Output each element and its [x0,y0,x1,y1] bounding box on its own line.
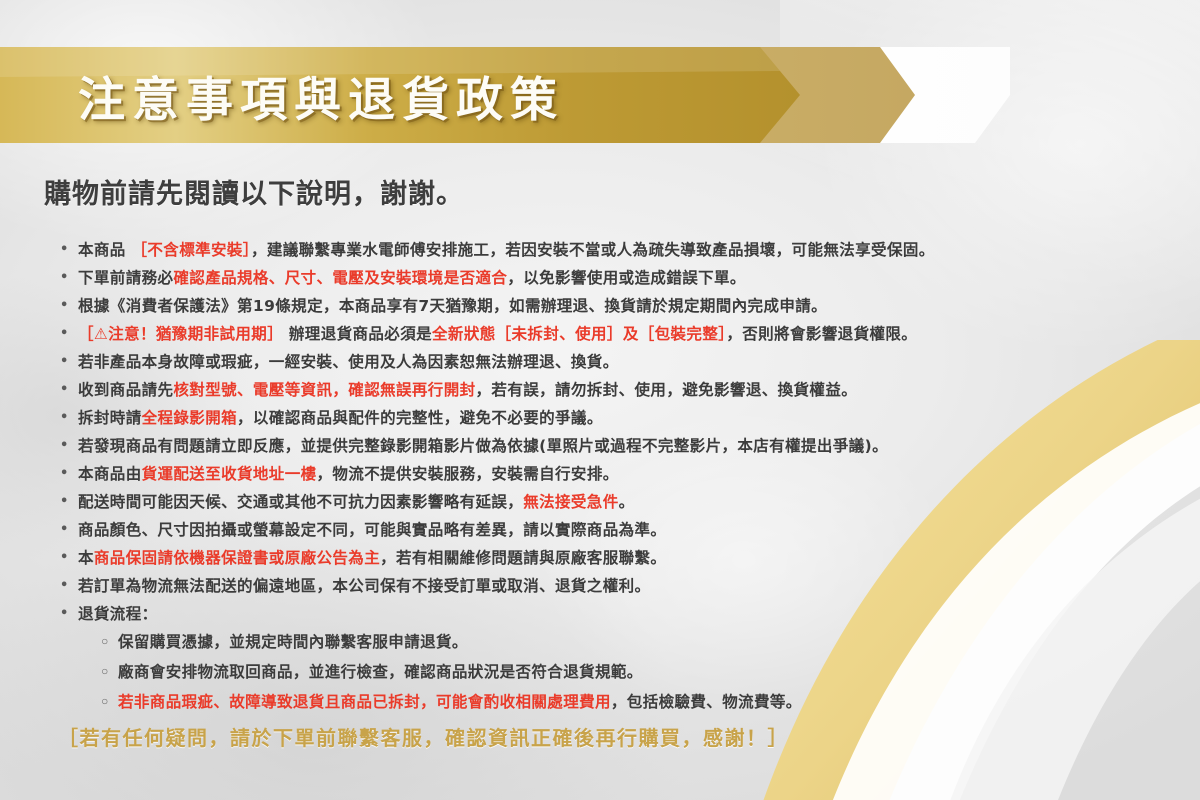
notice-item-text: ［⚠注意！猶豫期非試用期］ 辦理退貨商品必須是全新狀態［未拆封、使用］及［包裝完… [78,320,1180,348]
disc-bullet-icon [60,488,78,516]
highlighted-text: 核對型號、電壓等資訊，確認無誤再行開封 [173,381,475,399]
notice-item-text: 配送時間可能因天候、交通或其他不可抗力因素影響略有延誤，無法接受急件。 [78,488,1180,516]
body-text: 本商品由 [78,465,142,483]
body-text: 根據《消費者保護法》第19條規定，本商品享有7天猶豫期，如需辦理退、換貨請於規定… [78,297,827,315]
body-text: 下單前請務必 [78,269,173,287]
content-area: 購物前請先閱讀以下說明，謝謝。 本商品 ［不含標準安裝］，建議聯繫專業水電師傅安… [0,0,1200,800]
body-text: 拆封時請 [78,409,142,427]
notice-item-text: 本商品保固請依機器保證書或原廠公告為主，若有相關維修問題請與原廠客服聯繫。 [78,544,1180,572]
disc-bullet-icon [60,264,78,292]
disc-bullet-icon [60,460,78,488]
body-text: 配送時間可能因天候、交通或其他不可抗力因素影響略有延誤， [78,493,523,511]
notice-item-text: 本商品由貨運配送至收貨地址一樓，物流不提供安裝服務，安裝需自行安排。 [78,460,1180,488]
notice-item-text: 若訂單為物流無法配送的偏遠地區，本公司保有不接受訂單或取消、退貨之權利。 [78,572,1180,600]
notice-item: 根據《消費者保護法》第19條規定，本商品享有7天猶豫期，如需辦理退、換貨請於規定… [60,292,1180,320]
notice-sub-item: 廠商會安排物流取回商品，並進行檢查，確認商品狀況是否符合退貨規範。 [100,658,1180,688]
notice-item-text: 若發現商品有問題請立即反應，並提供完整錄影開箱影片做為依據(單照片或過程不完整影… [78,432,1180,460]
body-text: 本商品 [78,241,132,259]
notice-item: 本商品由貨運配送至收貨地址一樓，物流不提供安裝服務，安裝需自行安排。 [60,460,1180,488]
notice-item-text: 保留購買憑據，並規定時間內聯繫客服申請退貨。 [118,628,1180,656]
notice-item-text: 若非產品本身故障或瑕疵，一經安裝、使用及人為因素恕無法辦理退、換貨。 [78,348,1180,376]
body-text: ，否則將會影響退貨權限。 [726,325,917,343]
notice-item: 若非產品本身故障或瑕疵，一經安裝、使用及人為因素恕無法辦理退、換貨。 [60,348,1180,376]
notice-item: 若發現商品有問題請立即反應，並提供完整錄影開箱影片做為依據(單照片或過程不完整影… [60,432,1180,460]
disc-bullet-icon [60,544,78,572]
highlighted-text: 全新狀態［未拆封、使用］及［包裝完整］ [432,325,726,343]
notice-item-text: 退貨流程： [78,600,1180,628]
notice-item: 商品顏色、尺寸因拍攝或螢幕設定不同，可能與實品略有差異，請以實際商品為準。 [60,516,1180,544]
highlighted-text: 無法接受急件 [523,493,618,511]
notice-item: 退貨流程： [60,600,1180,628]
disc-bullet-icon [60,320,78,348]
notice-item-text: 收到商品請先核對型號、電壓等資訊，確認無誤再行開封，若有誤，請勿拆封、使用，避免… [78,376,1180,404]
highlighted-text: 若非商品瑕疵、故障導致退貨且商品已拆封，可能會酌收相關處理費用 [118,693,611,711]
body-text: 若發現商品有問題請立即反應，並提供完整錄影開箱影片做為依據(單照片或過程不完整影… [78,437,888,455]
body-text: 保留購買憑據，並規定時間內聯繫客服申請退貨。 [118,633,468,651]
disc-bullet-icon [60,404,78,432]
hollow-circle-bullet-icon [100,628,118,658]
notice-item-text: 根據《消費者保護法》第19條規定，本商品享有7天猶豫期，如需辦理退、換貨請於規定… [78,292,1180,320]
notice-item: 本商品 ［不含標準安裝］，建議聯繫專業水電師傅安排施工，若因安裝不當或人為疏失導… [60,236,1180,264]
body-text: ，以確認商品與配件的完整性，避免不必要的爭議。 [237,409,603,427]
disc-bullet-icon [60,292,78,320]
notice-sub-item: 若非商品瑕疵、故障導致退貨且商品已拆封，可能會酌收相關處理費用，包括檢驗費、物流… [100,688,1180,718]
disc-bullet-icon [60,572,78,600]
notice-item-text: 下單前請務必確認產品規格、尺寸、電壓及安裝環境是否適合，以免影響使用或造成錯誤下… [78,264,1180,292]
footer-note: ［若有任何疑問，請於下單前聯繫客服，確認資訊正確後再行購買，感謝！］ [58,722,789,751]
disc-bullet-icon [60,432,78,460]
body-text: ，若有誤，請勿拆封、使用，避免影響退、換貨權益。 [476,381,858,399]
highlighted-text: 貨運配送至收貨地址一樓 [142,465,317,483]
notice-item: 配送時間可能因天候、交通或其他不可抗力因素影響略有延誤，無法接受急件。 [60,488,1180,516]
notice-item: ［⚠注意！猶豫期非試用期］ 辦理退貨商品必須是全新狀態［未拆封、使用］及［包裝完… [60,320,1180,348]
highlighted-text: 確認產品規格、尺寸、電壓及安裝環境是否適合 [173,269,507,287]
notice-sub-item: 保留購買憑據，並規定時間內聯繫客服申請退貨。 [100,628,1180,658]
notice-item: 收到商品請先核對型號、電壓等資訊，確認無誤再行開封，若有誤，請勿拆封、使用，避免… [60,376,1180,404]
notice-item-text: 本商品 ［不含標準安裝］，建議聯繫專業水電師傅安排施工，若因安裝不當或人為疏失導… [78,236,1180,264]
highlighted-text: 全程錄影開箱 [142,409,237,427]
body-text: ，建議聯繫專業水電師傅安排施工，若因安裝不當或人為疏失導致產品損壞，可能無法享受… [251,241,935,259]
subtitle-heading: 購物前請先閱讀以下說明，謝謝。 [44,172,464,211]
body-text: 。 [619,493,635,511]
highlighted-text: 商品保固請依機器保證書或原廠公告為主 [94,549,380,567]
highlighted-text: ［不含標準安裝］ [132,241,251,259]
body-text: 廠商會安排物流取回商品，並進行檢查，確認商品狀況是否符合退貨規範。 [118,663,643,681]
body-text: 商品顏色、尺寸因拍攝或螢幕設定不同，可能與實品略有差異，請以實際商品為準。 [78,521,666,539]
notice-item-text: 若非商品瑕疵、故障導致退貨且商品已拆封，可能會酌收相關處理費用，包括檢驗費、物流… [118,688,1180,716]
body-text: ，若有相關維修問題請與原廠客服聯繫。 [380,549,666,567]
body-text: 本 [78,549,94,567]
hollow-circle-bullet-icon [100,688,118,718]
notice-item-text: 廠商會安排物流取回商品，並進行檢查，確認商品狀況是否符合退貨規範。 [118,658,1180,686]
notice-item: 本商品保固請依機器保證書或原廠公告為主，若有相關維修問題請與原廠客服聯繫。 [60,544,1180,572]
notice-list: 本商品 ［不含標準安裝］，建議聯繫專業水電師傅安排施工，若因安裝不當或人為疏失導… [60,236,1180,718]
disc-bullet-icon [60,600,78,628]
disc-bullet-icon [60,516,78,544]
disc-bullet-icon [60,236,78,264]
body-text: ，包括檢驗費、物流費等。 [611,693,802,711]
body-text: ，以免影響使用或造成錯誤下單。 [507,269,746,287]
notice-item: 下單前請務必確認產品規格、尺寸、電壓及安裝環境是否適合，以免影響使用或造成錯誤下… [60,264,1180,292]
page-root: 注意事項與退貨政策 購物前請先閱讀以下說明，謝謝。 本商品 ［不含標準安裝］，建… [0,0,1200,800]
body-text: 收到商品請先 [78,381,173,399]
hollow-circle-bullet-icon [100,658,118,688]
notice-item: 若訂單為物流無法配送的偏遠地區，本公司保有不接受訂單或取消、退貨之權利。 [60,572,1180,600]
disc-bullet-icon [60,348,78,376]
body-text: 若訂單為物流無法配送的偏遠地區，本公司保有不接受訂單或取消、退貨之權利。 [78,577,650,595]
body-text: 退貨流程： [78,605,158,623]
highlighted-text: ［⚠注意！猶豫期非試用期］ [78,325,283,343]
notice-item-text: 拆封時請全程錄影開箱，以確認商品與配件的完整性，避免不必要的爭議。 [78,404,1180,432]
disc-bullet-icon [60,376,78,404]
body-text: 辦理退貨商品必須是 [283,325,432,343]
notice-item: 拆封時請全程錄影開箱，以確認商品與配件的完整性，避免不必要的爭議。 [60,404,1180,432]
notice-item-text: 商品顏色、尺寸因拍攝或螢幕設定不同，可能與實品略有差異，請以實際商品為準。 [78,516,1180,544]
body-text: ，物流不提供安裝服務，安裝需自行安排。 [317,465,619,483]
body-text: 若非產品本身故障或瑕疵，一經安裝、使用及人為因素恕無法辦理退、換貨。 [78,353,619,371]
